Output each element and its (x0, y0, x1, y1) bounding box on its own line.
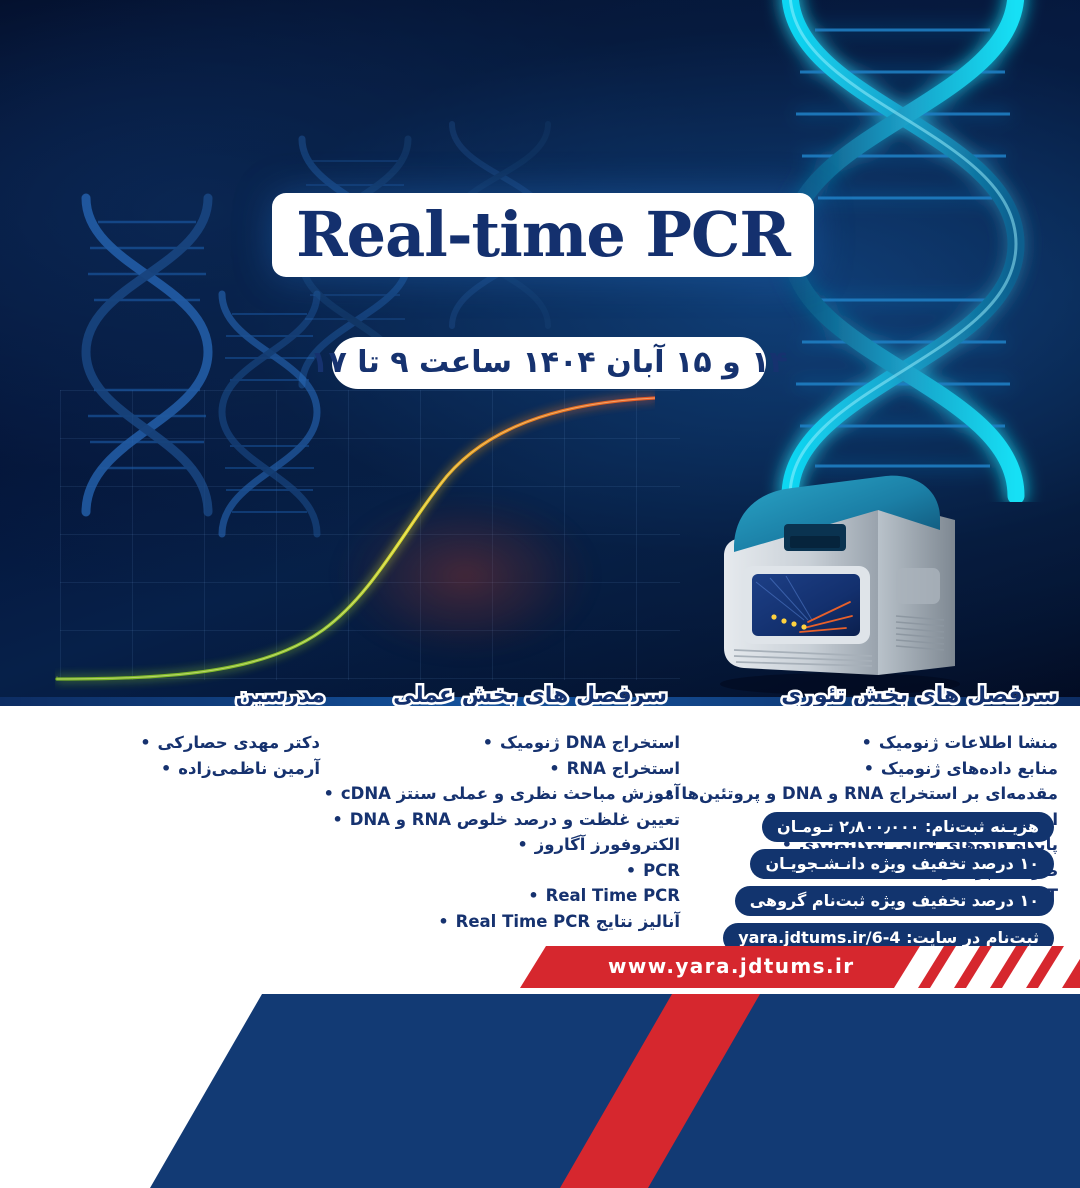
list-item: الکتروفورز آگاروز (324, 832, 680, 858)
list-item: آرمین ناظمی‌زاده (140, 756, 320, 782)
group-discount-badge: ۱۰ درصد تخفیف ویژه ثبت‌نام گروهی (735, 886, 1054, 916)
list-item: آنالیز نتایج Real Time PCR (324, 909, 680, 935)
list-item: مقدمه‌ای بر استخراج RNA و DNA و پروتئین‌… (664, 781, 1058, 807)
list-item: استخراج RNA (324, 756, 680, 782)
event-date: ۱۴ و ۱۵ آبان ۱۴۰۴ ساعت ۹ تا ۱۷ (310, 348, 788, 378)
list-item: استخراج DNA ژنومیک (324, 730, 680, 756)
student-discount-text: ۱۰ درصد تخفیف ویژه دانـشـجویـان (765, 856, 1039, 872)
website-url: www.yara.jdtums.ir (608, 954, 854, 978)
teachers-list: دکتر مهدی حصارکی آرمین ناظمی‌زاده (140, 730, 320, 781)
fee-badge: هزیـنه ثبت‌نام: ۲٫۸۰۰٫۰۰۰ تـومـان (762, 812, 1054, 842)
footer-background (0, 994, 1080, 1188)
list-item: Real Time PCR (324, 883, 680, 909)
poster-title-pill: Real-time PCR (272, 193, 814, 277)
list-item: منابع داده‌های ژنومیک (664, 756, 1058, 782)
website-band: www.yara.jdtums.ir (520, 946, 1080, 994)
hero-banner: Real-time PCR ۱۴ و ۱۵ آبان ۱۴۰۴ ساعت ۹ ت… (0, 0, 1080, 700)
dna-helix-icon (72, 192, 222, 522)
fee-text: هزیـنه ثبت‌نام: ۲٫۸۰۰٫۰۰۰ تـومـان (777, 819, 1039, 835)
list-item: منشا اطلاعات ژنومیک (664, 730, 1058, 756)
event-date-pill: ۱۴ و ۱۵ آبان ۱۴۰۴ ساعت ۹ تا ۱۷ (332, 337, 766, 389)
list-item: آموزش مباحث نظری و عملی سنتز cDNA (324, 781, 680, 807)
list-item: PCR (324, 858, 680, 884)
list-item: دکتر مهدی حصارکی (140, 730, 320, 756)
student-discount-badge: ۱۰ درصد تخفیف ویژه دانـشـجویـان (750, 849, 1054, 879)
group-discount-text: ۱۰ درصد تخفیف ویژه ثبت‌نام گروهی (750, 893, 1039, 909)
footer: جهاد دانشگاهی ۱۳۵۹ سازمان علوم پزشکی تهر… (0, 994, 1080, 1188)
practical-topics-list: استخراج DNA ژنومیک استخراج RNA آموزش مبا… (324, 730, 680, 934)
page-title: Real-time PCR (296, 204, 790, 266)
pcr-machine-illustration (700, 470, 980, 695)
list-item: تعیین غلظت و درصد خلوص RNA و DNA (324, 807, 680, 833)
registration-link-text: ثبت‌نام در سایت: yara.jdtums.ir/6-4 (738, 930, 1039, 946)
